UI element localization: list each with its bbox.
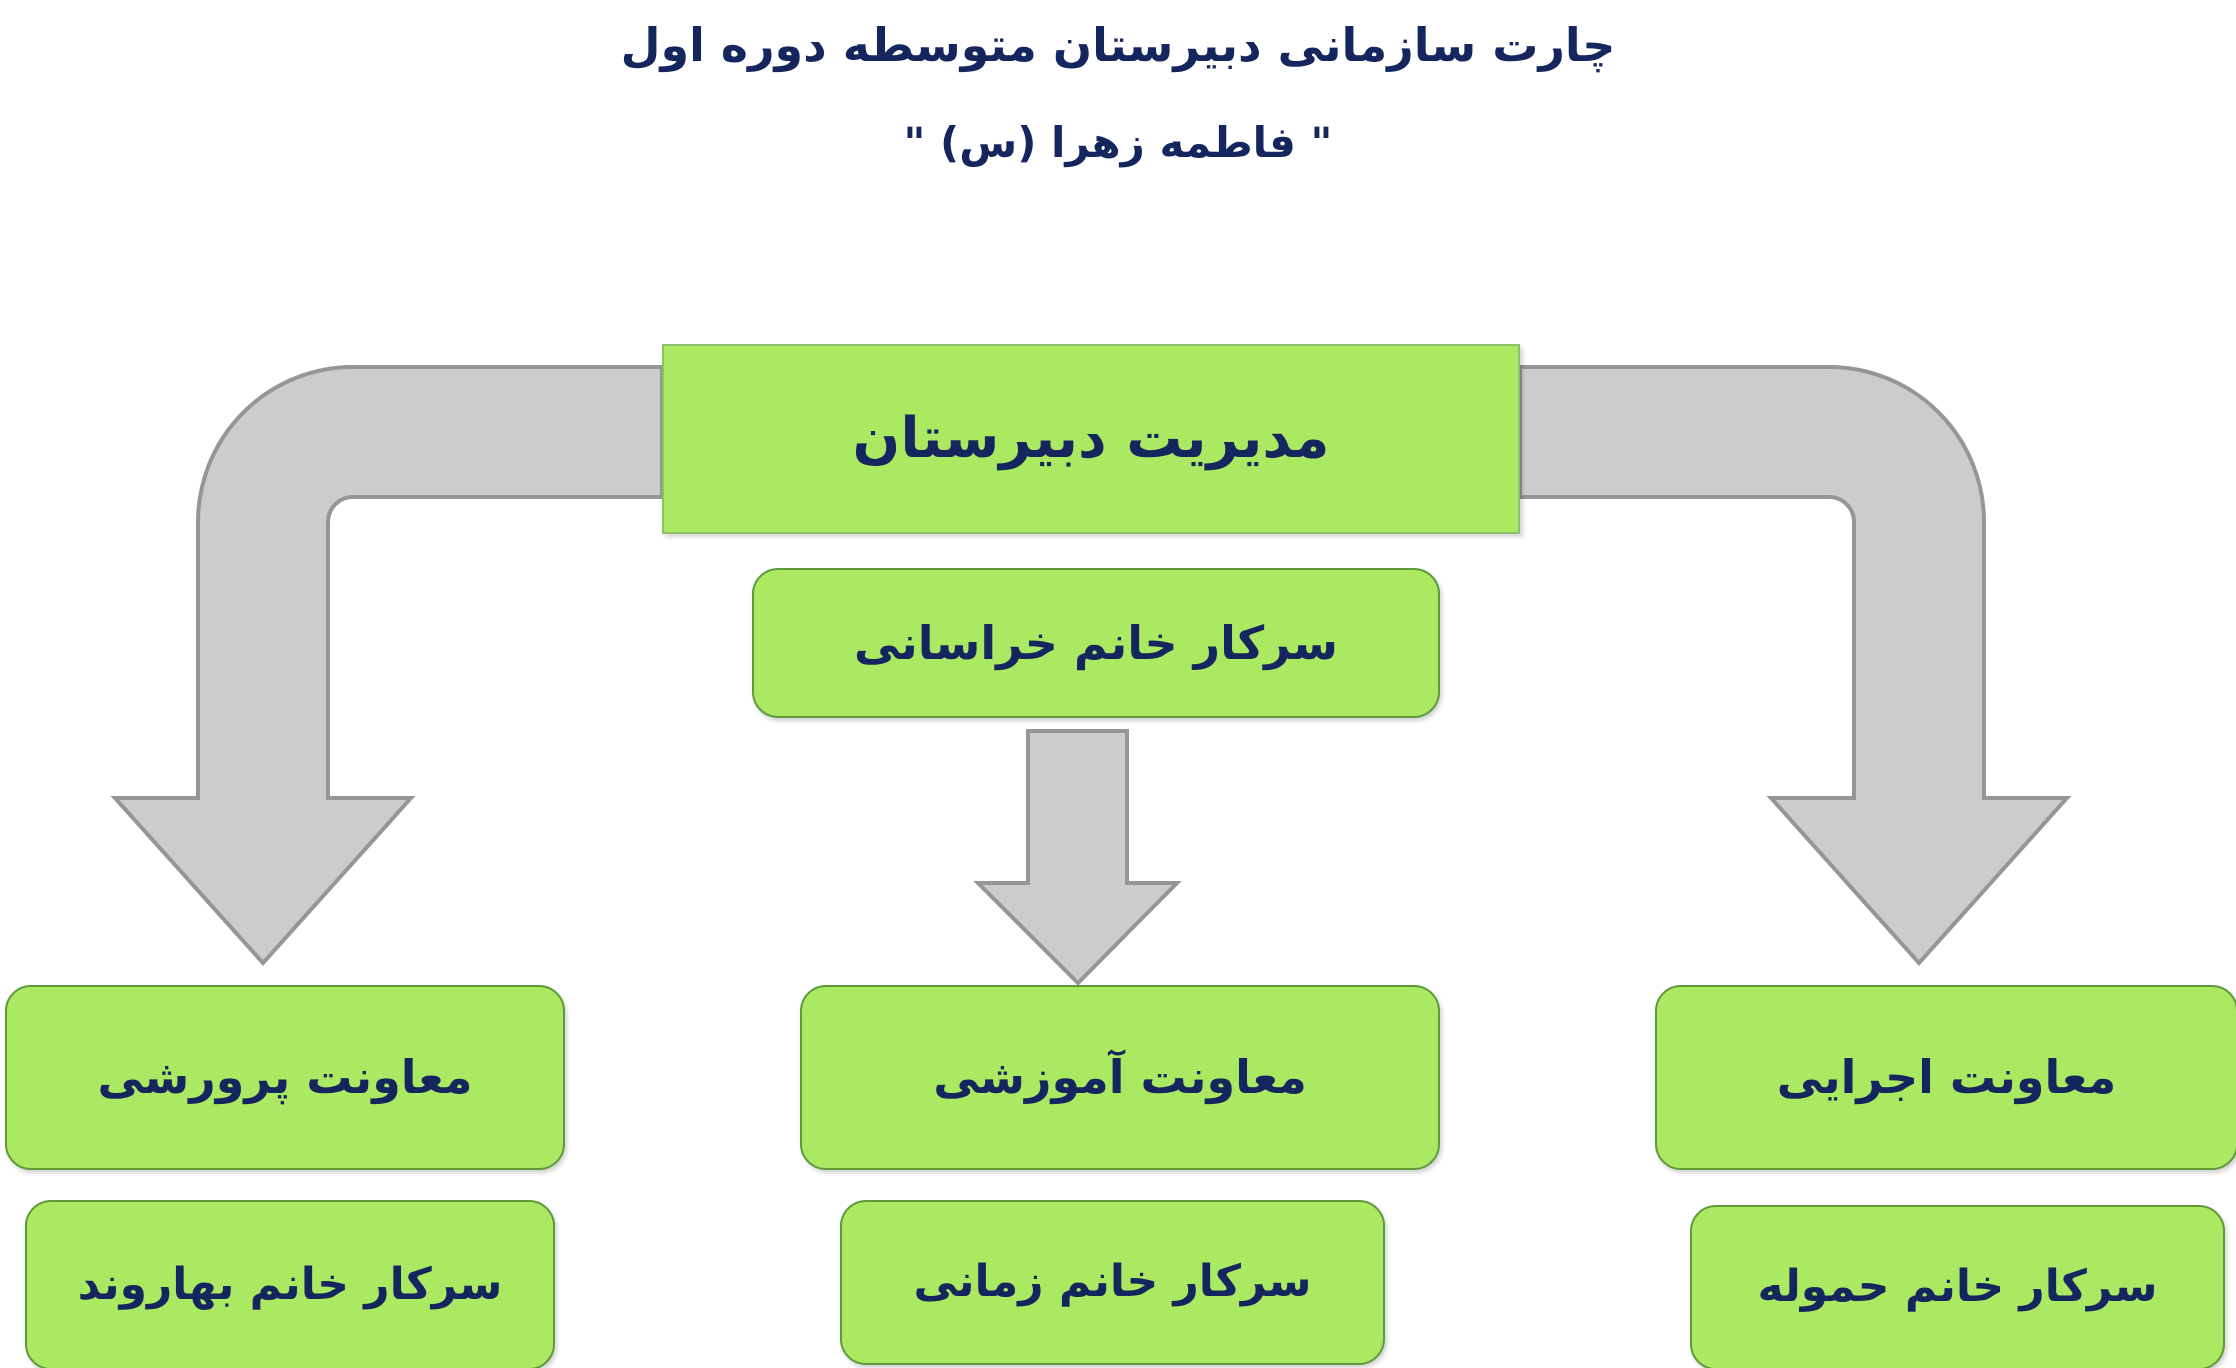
chart-title-line-2: " فاطمه زهرا (س) " [0, 118, 2236, 167]
elbow-arrow-right [1520, 367, 2067, 963]
node-director[interactable]: مدیریت دبیرستان [662, 344, 1520, 534]
node-deputy-education-name[interactable]: سرکار خانم زمانی [840, 1200, 1385, 1365]
node-deputy-training[interactable]: معاونت پرورشی [5, 985, 565, 1170]
node-deputy-executive-name[interactable]: سرکار خانم حموله [1690, 1205, 2225, 1368]
straight-arrow-center [978, 731, 1177, 983]
chart-title-line-1: چارت سازمانی دبیرستان متوسطه دوره اول [0, 18, 2236, 72]
elbow-arrow-left [115, 367, 662, 963]
node-deputy-executive[interactable]: معاونت اجرایی [1655, 985, 2236, 1170]
node-deputy-education[interactable]: معاونت آموزشی [800, 985, 1440, 1170]
node-deputy-training-name[interactable]: سرکار خانم بهاروند [25, 1200, 555, 1368]
org-chart-canvas: چارت سازمانی دبیرستان متوسطه دوره اول " … [0, 0, 2236, 1368]
node-director-name[interactable]: سرکار خانم خراسانی [752, 568, 1440, 718]
